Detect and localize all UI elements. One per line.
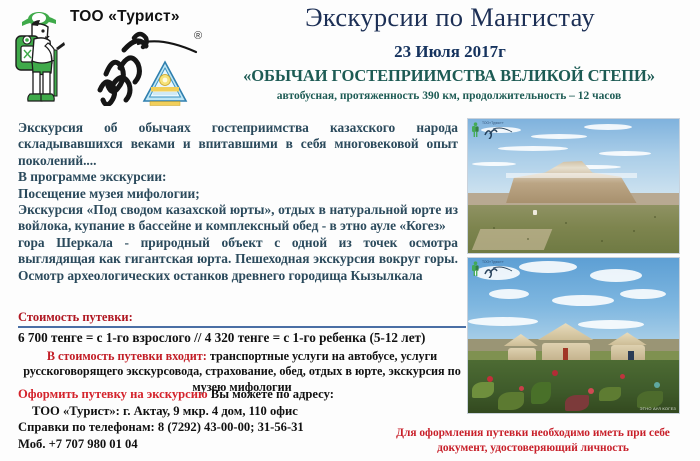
office-address: ТОО «Турист»: г. Актау, 9 мкр. 4 дом, 11… — [18, 403, 398, 420]
watermark-brush-icon — [483, 265, 513, 279]
foliage-shape — [599, 387, 621, 401]
tour-date: 23 Июля 2017г — [210, 42, 690, 62]
poster-root: ТОО «Турист» ® — [0, 0, 700, 461]
price-section: Стоимость путевки: 6 700 тенге = с 1-го … — [18, 310, 466, 395]
foliage-shape — [472, 382, 494, 398]
hiker-with-backpack-icon — [12, 6, 66, 115]
foliage-shape — [498, 392, 524, 410]
program-header: В программе экскурсии: — [18, 169, 458, 185]
cloud-shape — [531, 134, 587, 139]
program-item-yurt: Экскурсия «Под сводом казахской юрты», о… — [18, 202, 458, 235]
program-item-sherkala: гора Шеркала - природный объект с одной … — [18, 235, 458, 284]
watermark-hiker-icon — [471, 261, 480, 279]
watermark-brush-icon — [483, 126, 513, 140]
booking-cta-line: Оформить путевку на экскурсию Вы можете … — [18, 386, 398, 403]
yurt-camp-photo: ТОО«Турист» ЭТНО АУЛ КОГЕЗ — [467, 257, 680, 414]
vegetation-speck — [654, 216, 656, 218]
note-line-2: документ, удостоверяющий личность — [368, 441, 698, 456]
vegetation-speck — [565, 222, 567, 224]
cloud-shape — [578, 320, 644, 329]
cloud-shape — [489, 289, 529, 299]
note-line-1: Для оформления путевки необходимо иметь … — [368, 426, 698, 441]
price-included-head: В стоимость путевки входит: — [47, 349, 207, 363]
sherkala-mountain-photo: ТОО«Турист» — [467, 118, 680, 254]
flower-shape — [620, 374, 625, 379]
price-line: 6 700 тенге = с 1-го взрослого // 4 320 … — [18, 330, 466, 346]
price-label: Стоимость путевки: — [18, 310, 466, 326]
page-title: Экскурсии по Мангистау — [210, 2, 690, 33]
photo-watermark: ТОО«Турист» — [471, 121, 515, 141]
program-item-museum: Посещение музея мифологии; — [18, 186, 458, 202]
booking-cta-head: Оформить путевку на экскурсию — [18, 387, 208, 401]
description-column: Экскурсия об обычаях гостеприимства каза… — [18, 120, 458, 284]
cloud-shape — [468, 317, 538, 326]
brand-logo-block: ТОО «Турист» ® — [8, 2, 208, 114]
watermark-hiker-icon — [471, 122, 480, 140]
booking-cta-tail: Вы можете по адресу: — [208, 387, 334, 401]
contact-section: Оформить путевку на экскурсию Вы можете … — [18, 386, 398, 452]
flower-shape — [519, 386, 524, 391]
flower-shape — [654, 382, 660, 388]
foliage-shape — [531, 382, 551, 404]
cloud-shape — [620, 289, 666, 299]
vegetation-speck — [527, 238, 529, 240]
photo-credit: ЭТНО АУЛ КОГЕЗ — [640, 406, 676, 411]
company-name: ТОО «Турист» — [70, 8, 180, 26]
mesa-strata-band — [506, 173, 637, 178]
cloud-shape — [472, 162, 516, 166]
cloud-shape — [498, 146, 568, 151]
watermark-text: ТОО«Турист» — [482, 121, 504, 125]
mobile-number: Моб. +7 707 980 01 04 — [18, 436, 398, 453]
phone-numbers: Справки по телефонам: 8 (7292) 43-00-00;… — [18, 419, 398, 436]
tour-subtitle: «ОБЫЧАИ ГОСТЕПРИИМСТВА ВЕЛИКОЙ СТЕПИ» — [200, 66, 698, 86]
yurt-body — [508, 348, 536, 361]
photo-watermark: ТОО«Турист» — [471, 260, 515, 280]
price-divider — [18, 326, 466, 328]
watermark-text: ТОО«Турист» — [482, 260, 504, 264]
certification-triangle-badge-icon — [142, 60, 188, 111]
cloud-shape — [519, 261, 577, 273]
intro-paragraph: Экскурсия об обычаях гостеприимства каза… — [18, 120, 458, 169]
tour-meta: автобусная, протяженность 390 км, продол… — [200, 90, 698, 102]
flower-shape — [487, 376, 493, 382]
dirt-track — [472, 229, 552, 250]
document-required-note: Для оформления путевки необходимо иметь … — [368, 426, 698, 455]
cloud-shape — [590, 269, 642, 282]
poster-header: ТОО «Турист» ® — [0, 0, 700, 112]
vegetation-speck — [633, 230, 635, 232]
